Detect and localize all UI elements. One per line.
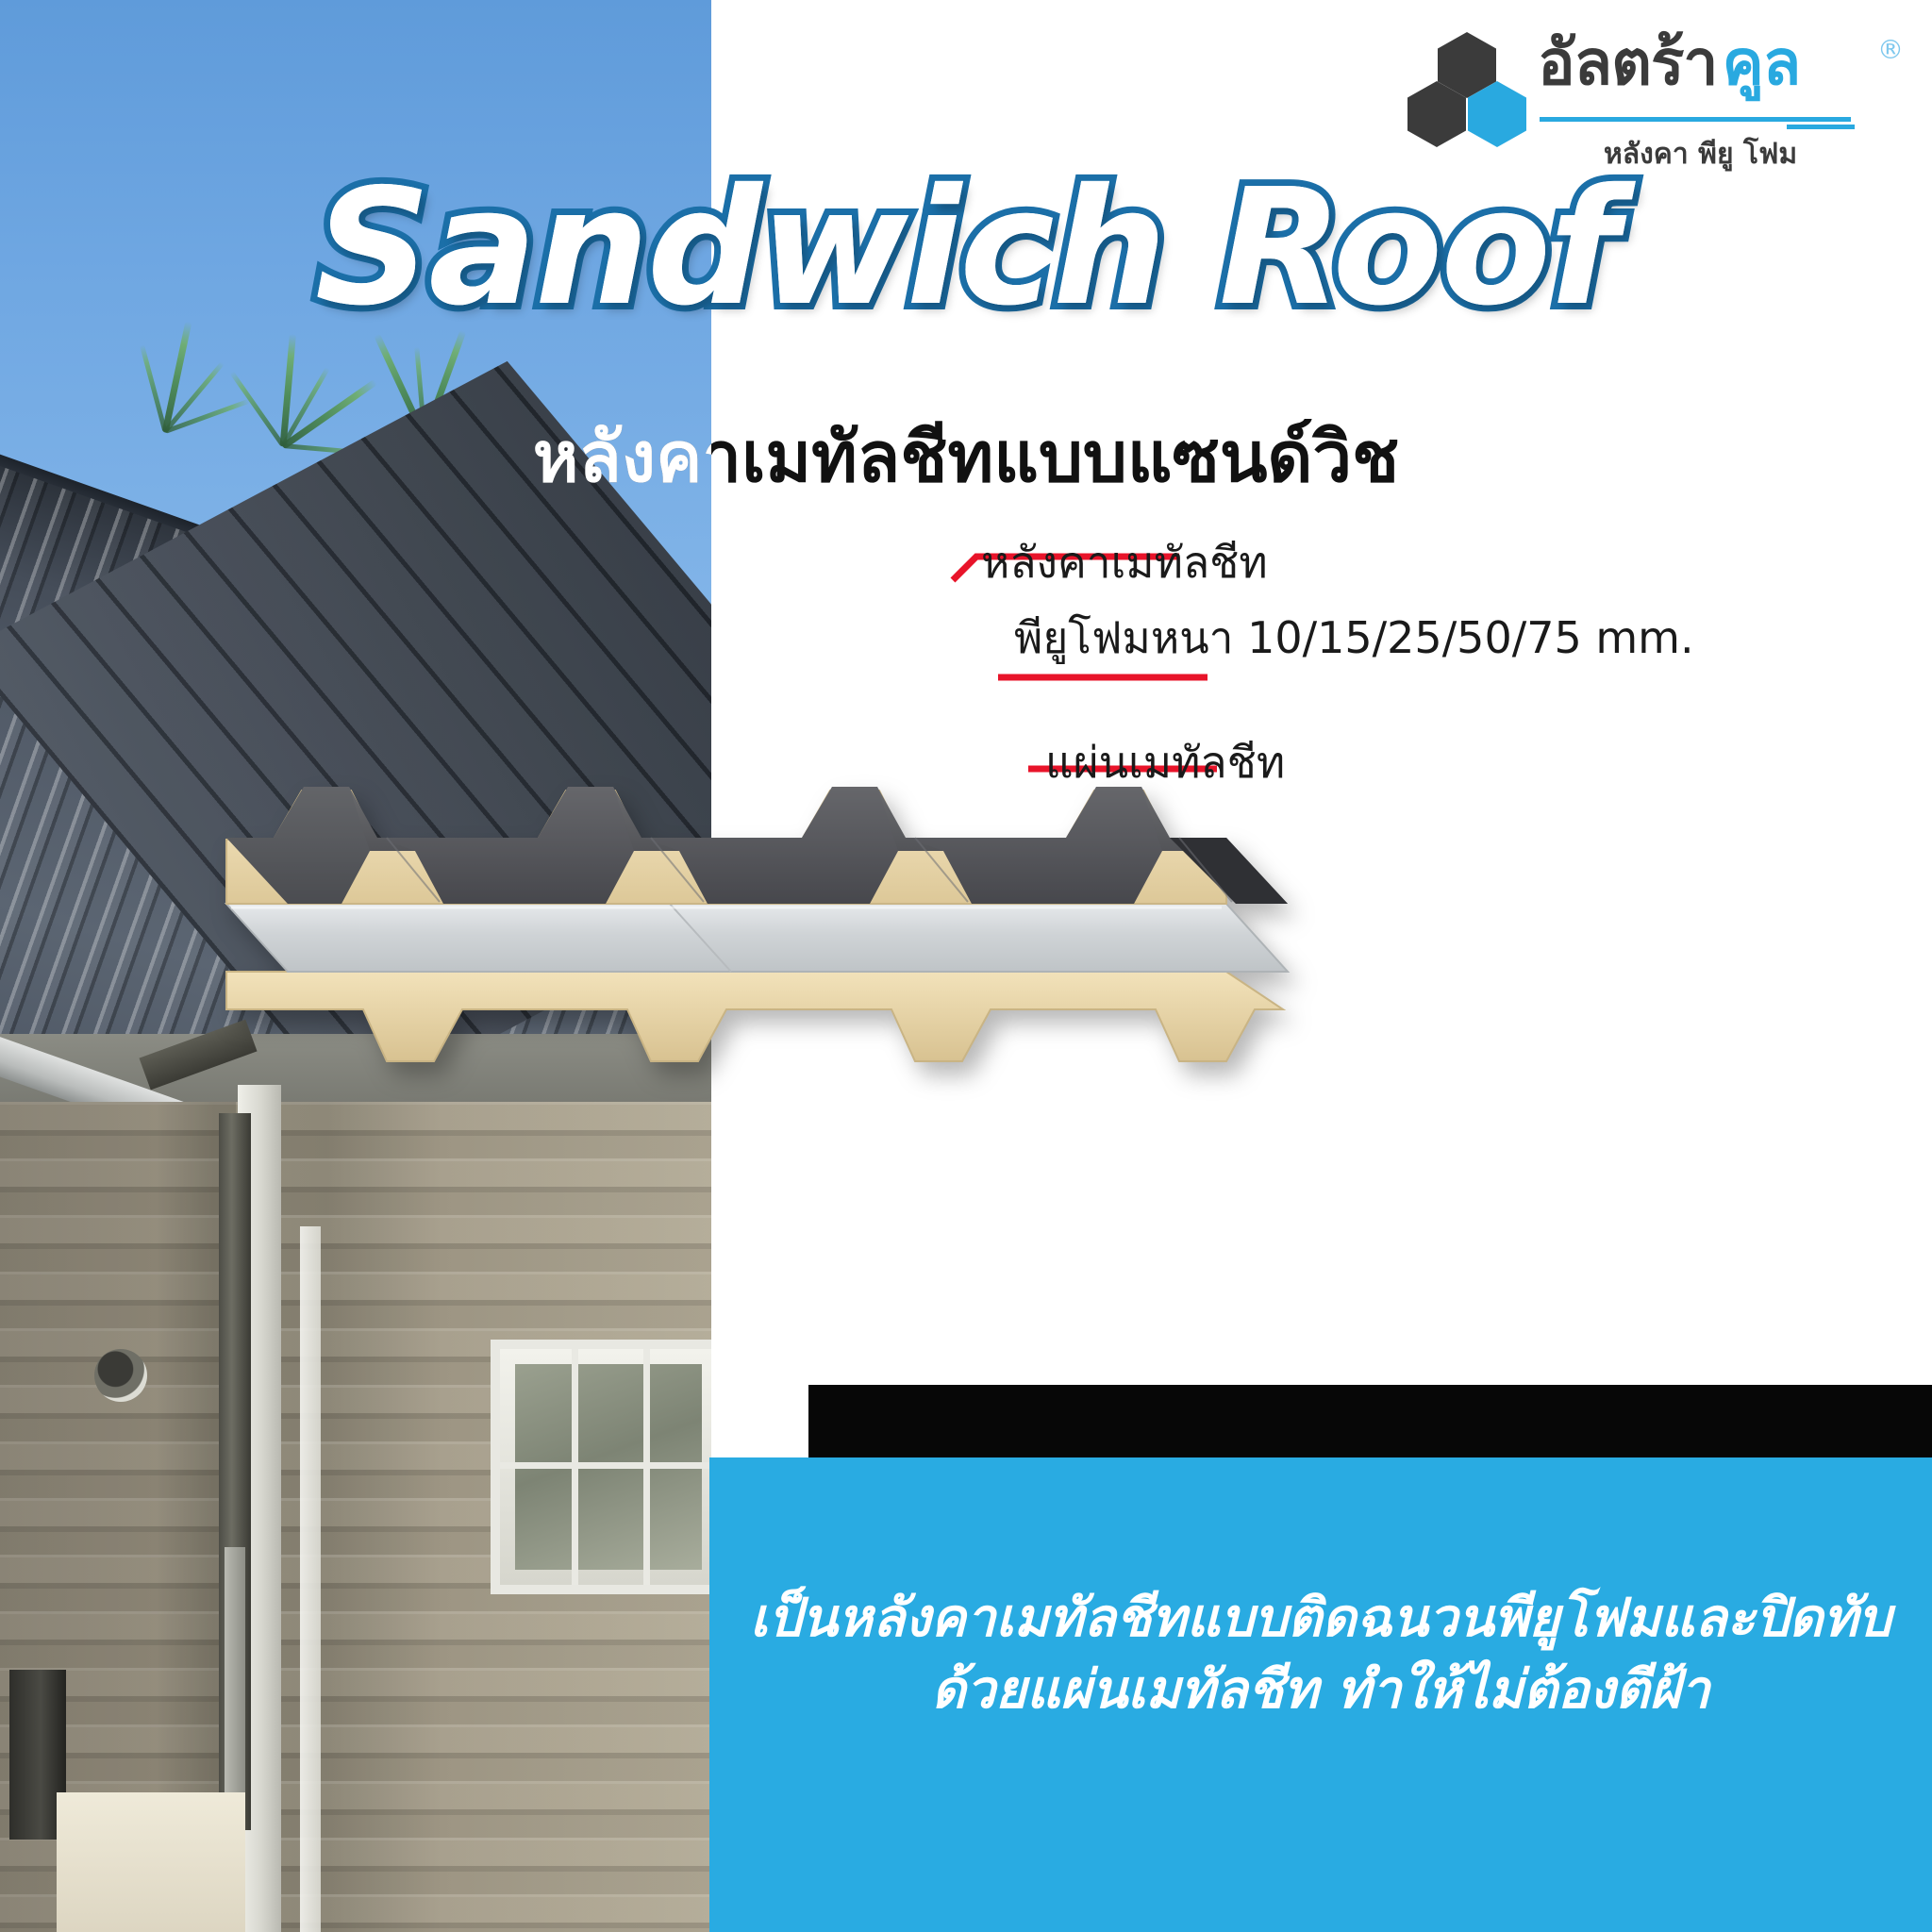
logo-underline-primary — [1540, 117, 1851, 122]
logo-wordmark: อัลตร้า คูล — [1538, 32, 1915, 94]
panel-layer-bottom-metal — [226, 904, 1288, 972]
page-title: Sandwich Roof — [0, 168, 1932, 328]
black-divider-bar — [808, 1385, 1932, 1457]
logo-underline-secondary — [1787, 125, 1855, 129]
house-window — [491, 1340, 711, 1594]
hexagon-logo-icon — [1406, 32, 1528, 145]
callout-label-pu-foam: พียูโฟมหนา 10/15/25/50/75 mm. — [1014, 604, 1694, 673]
porch-floor — [57, 1792, 245, 1932]
subtitle-wrapper: หลังคาเมทัลชีทแบบแซนด์วิช หลังคาเมทัลชีท… — [0, 406, 1932, 509]
logo-name-primary: อัลตร้า — [1538, 26, 1717, 99]
footer-description: เป็นหลังคาเมทัลชีทแบบติดฉนวนพียูโฟมและปิ… — [709, 1583, 1932, 1726]
poster-root: อัลตร้า คูล ® หลังคา พียู โฟม Sandwich R… — [0, 0, 1932, 1932]
callout-label-metal-sheet: แผ่นเมทัลชีท — [1045, 728, 1285, 797]
brand-logo[interactable]: อัลตร้า คูล ® หลังคา พียู โฟม — [1406, 26, 1915, 168]
callout-label-roof-sheet: หลังคาเมทัลชีท — [981, 528, 1268, 597]
footer-description-line-1: เป็นหลังคาเมทัลชีทแบบติดฉนวนพียูโฟมและปิ… — [709, 1583, 1932, 1655]
wall-vent-icon — [94, 1349, 147, 1402]
registered-trademark-icon: ® — [1877, 34, 1904, 65]
logo-name-secondary: คูล — [1723, 26, 1801, 99]
footer-description-line-2: ด้วยแผ่นเมทัลชีท ทำให้ไม่ต้องตีฝ้า — [709, 1655, 1932, 1726]
panel-layer-foam-lower — [226, 972, 1283, 1061]
corner-trim-board-secondary — [300, 1226, 321, 1932]
